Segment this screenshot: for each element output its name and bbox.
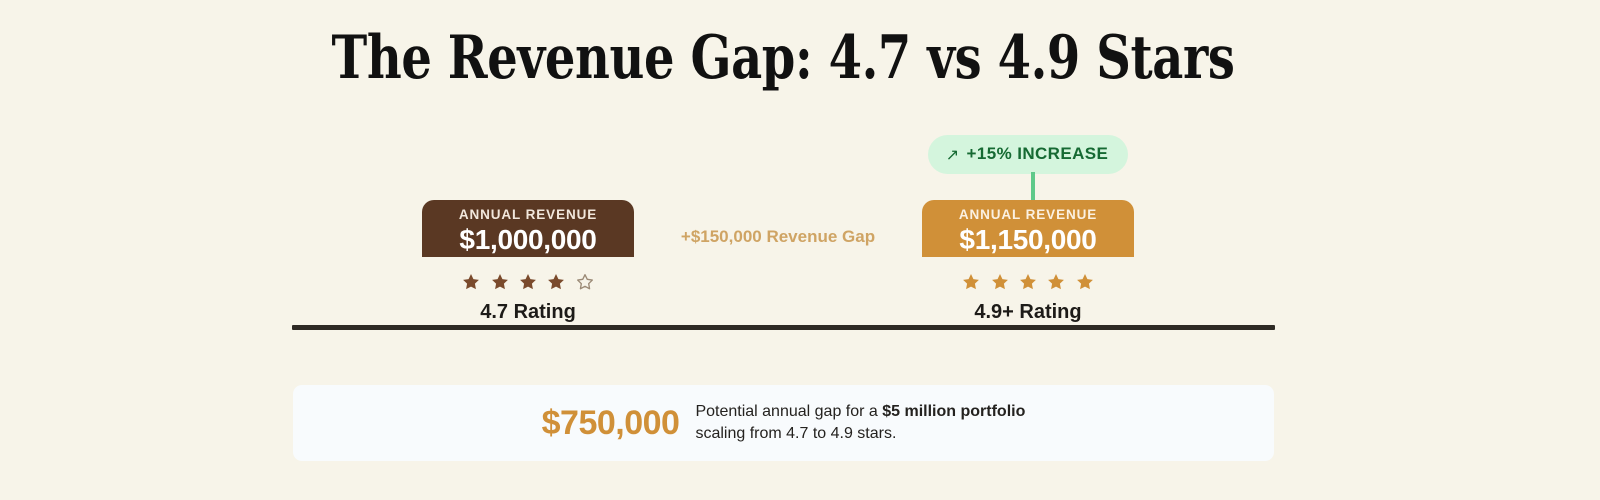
rating-label-high: 4.9+ Rating [898,300,1158,324]
portfolio-callout-inner: $750,000 Potential annual gap for a $5 m… [542,401,1026,445]
star-rating-high [898,272,1158,292]
comparison-section: ↗+15% INCREASE ANNUAL REVENUE $1,000,000… [292,120,1275,330]
star-filled-icon [1046,272,1066,292]
badge-connector-line [1031,172,1035,200]
rating-label-low: 4.7 Rating [398,300,658,324]
star-filled-icon [518,272,538,292]
infographic-root: The Revenue Gap: 4.7 vs 4.9 Stars ↗+15% … [0,0,1600,500]
revenue-card-low-value: $1,000,000 [422,223,634,256]
callout-line2: scaling from 4.7 to 4.9 stars. [695,425,896,442]
star-filled-icon [961,272,981,292]
revenue-card-low: ANNUAL REVENUE $1,000,000 [422,200,634,257]
revenue-gap-label: +$150,000 Revenue Gap [658,226,898,248]
trend-up-arrow-icon: ↗ [946,145,960,165]
revenue-card-low-label: ANNUAL REVENUE [422,207,634,223]
increase-badge: ↗+15% INCREASE [928,135,1129,174]
callout-amount: $750,000 [542,404,680,442]
page-title: The Revenue Gap: 4.7 vs 4.9 Stars [157,22,1410,94]
star-filled-icon [490,272,510,292]
callout-line1-prefix: Potential annual gap for a [695,403,882,420]
increase-badge-wrapper: ↗+15% INCREASE [898,135,1158,174]
star-filled-icon [546,272,566,292]
revenue-card-high-value: $1,150,000 [922,223,1134,256]
star-filled-icon [1018,272,1038,292]
star-filled-icon [1075,272,1095,292]
star-outline-icon [575,272,595,292]
star-filled-icon [461,272,481,292]
star-rating-low [398,272,658,292]
portfolio-callout: $750,000 Potential annual gap for a $5 m… [293,385,1274,461]
callout-line1-bold: $5 million portfolio [882,403,1025,420]
callout-description: Potential annual gap for a $5 million po… [695,401,1025,445]
revenue-card-high: ANNUAL REVENUE $1,150,000 [922,200,1134,257]
star-filled-icon [990,272,1010,292]
revenue-card-high-label: ANNUAL REVENUE [922,207,1134,223]
increase-badge-label: +15% INCREASE [967,144,1109,163]
